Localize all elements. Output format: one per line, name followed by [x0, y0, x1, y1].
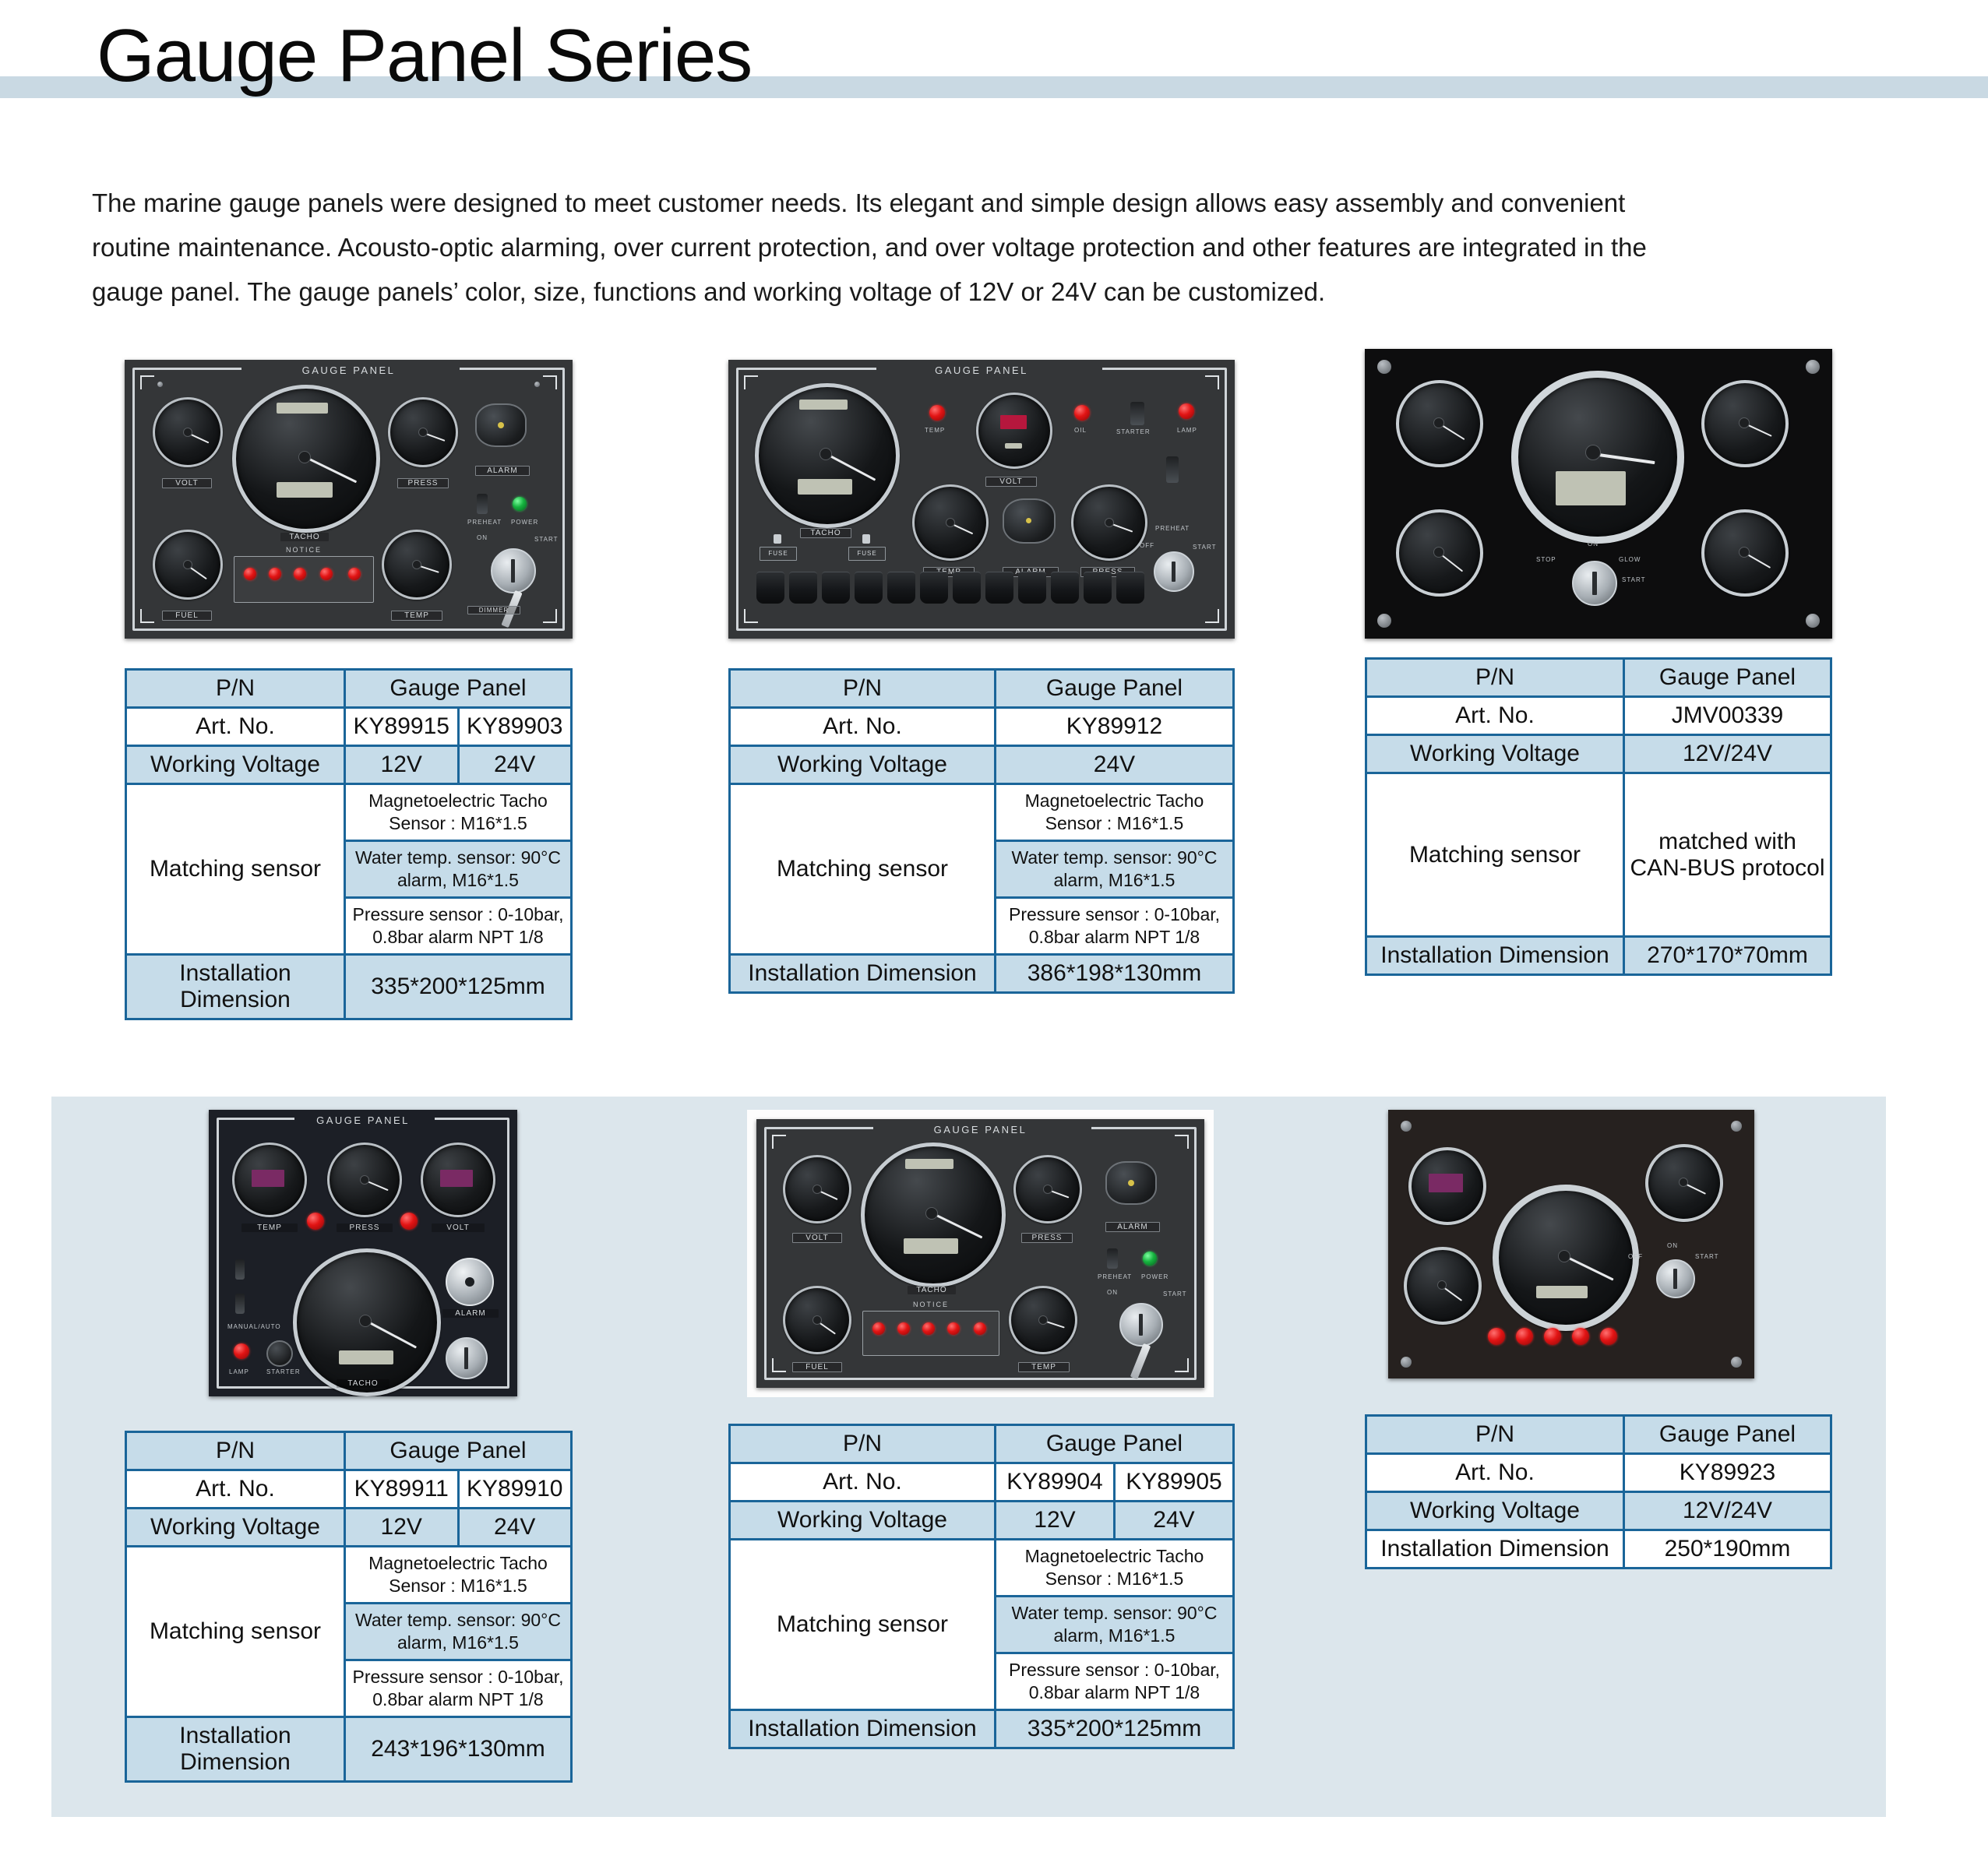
- gauge-panel-illustration: GAUGE PANEL VOLT TACHO PRESS: [756, 1119, 1204, 1388]
- gauge-panel-header: Gauge Panel: [996, 1425, 1234, 1463]
- gauge-panel-header: Gauge Panel: [996, 670, 1234, 708]
- screw: [1731, 1121, 1742, 1132]
- art-no-value: KY89912: [996, 708, 1234, 746]
- rocker-switch[interactable]: [789, 572, 817, 604]
- gauge-hub: [1043, 1185, 1052, 1194]
- alarm-led: [269, 568, 281, 580]
- fuel-gauge: [153, 530, 223, 600]
- table-row: P/N Gauge Panel: [730, 670, 1234, 708]
- art-no-label: Art. No.: [1366, 1454, 1624, 1492]
- press-gauge: [1013, 1155, 1082, 1223]
- key-slot: [511, 559, 515, 583]
- screw: [1401, 1121, 1412, 1132]
- press-gauge: [1071, 484, 1147, 561]
- voltage-value: 12V: [996, 1502, 1115, 1540]
- table-row: Art. No. KY89912: [730, 708, 1234, 746]
- alarm-indicator: [465, 1277, 474, 1287]
- alarm-led: [348, 568, 361, 580]
- sensor-tacho: Magnetoelectric Tacho Sensor : M16*1.5: [996, 1540, 1234, 1597]
- table-row: Matching sensor matched with CAN-BUS pro…: [1366, 773, 1831, 937]
- tacho-hour-meter: [277, 482, 333, 498]
- art-no-label: Art. No.: [1366, 697, 1624, 735]
- product-card-jmv00339: ON STOP GLOW START P/N Gauge Panel Art. …: [1365, 349, 1832, 976]
- tacho-hour-meter: [339, 1350, 393, 1364]
- voltage-value: 12V: [345, 1509, 459, 1547]
- fuse-body: [774, 534, 781, 544]
- working-voltage-label: Working Voltage: [1366, 1492, 1624, 1530]
- gauge-hub: [1739, 417, 1750, 428]
- ignition-key-switch[interactable]: [1656, 1259, 1695, 1298]
- product-photo-ky89923: ON OFF START: [1388, 1110, 1832, 1378]
- gauge-needle: [304, 456, 357, 483]
- volt-digital-display: [440, 1170, 473, 1187]
- table-row: Working Voltage 12V/24V: [1366, 1492, 1831, 1530]
- sensor-tacho: Magnetoelectric Tacho Sensor : M16*1.5: [345, 1547, 572, 1604]
- ignition-key-switch[interactable]: [1572, 561, 1617, 606]
- product-photo-ky89912: GAUGE PANEL TACHO TEMP VOLT OIL: [728, 360, 1235, 639]
- volt-label: VOLT: [792, 1233, 842, 1243]
- installation-dimension-value: 386*198*130mm: [996, 955, 1234, 993]
- rocker-switch[interactable]: [1084, 572, 1112, 604]
- table-row: P/N Gauge Panel: [1366, 659, 1831, 697]
- installation-dimension-label: Installation Dimension: [126, 1717, 345, 1782]
- alarm-button[interactable]: [475, 403, 527, 447]
- table-row: Working Voltage 12V/24V: [1366, 735, 1831, 773]
- alarm-led: [1516, 1328, 1533, 1345]
- toggle-switch[interactable]: [1107, 1248, 1118, 1269]
- pn-header: P/N: [1366, 659, 1624, 697]
- corner-mark: [1175, 1358, 1189, 1372]
- gauge-hub: [812, 1185, 822, 1194]
- ignition-key-switch[interactable]: [1119, 1303, 1163, 1347]
- tacho-top-lcd: [905, 1159, 953, 1169]
- gauge-panel-illustration: GAUGE PANEL VOLT TACHO: [125, 360, 573, 639]
- working-voltage-label: Working Voltage: [126, 746, 345, 784]
- installation-dimension-label: Installation Dimension: [126, 955, 345, 1019]
- panel-caption: GAUGE PANEL: [125, 364, 573, 376]
- temp-gauge: [382, 530, 452, 600]
- art-no-label: Art. No.: [730, 1463, 996, 1502]
- volt-gauge: [153, 397, 223, 467]
- art-no-value: KY89903: [458, 708, 572, 746]
- volt-label: VOLT: [432, 1223, 485, 1232]
- art-no-value: KY89910: [458, 1470, 572, 1509]
- press-label: PRESS: [397, 478, 449, 488]
- panel-caption: GAUGE PANEL: [209, 1114, 517, 1126]
- product-card-ky89904: GAUGE PANEL VOLT TACHO PRESS: [728, 1110, 1235, 1749]
- alarm-led: [1544, 1328, 1561, 1345]
- fuel-label: FUEL: [792, 1362, 842, 1372]
- screw: [1806, 360, 1820, 374]
- alarm-indicator: [1128, 1180, 1134, 1186]
- temp-gauge: [232, 1143, 307, 1217]
- gauge-hub: [812, 1315, 822, 1325]
- power-led: [513, 497, 527, 511]
- alarm-label: ALARM: [1105, 1222, 1160, 1232]
- screw: [1377, 614, 1391, 628]
- installation-dimension-label: Installation Dimension: [730, 1710, 996, 1748]
- pn-header: P/N: [1366, 1416, 1624, 1454]
- alarm-button[interactable]: [446, 1258, 494, 1306]
- alarm-led: [974, 1322, 986, 1335]
- alarm-led: [897, 1322, 910, 1335]
- gauge-needle: [1593, 452, 1655, 464]
- table-row: Working Voltage 12V 24V: [126, 1509, 572, 1547]
- sensor-tacho: Magnetoelectric Tacho Sensor : M16*1.5: [345, 784, 572, 841]
- press-label: PRESS: [337, 1223, 393, 1232]
- tacho-gauge: [1511, 371, 1684, 544]
- voltage-value: 24V: [996, 746, 1234, 784]
- gauge-panel-header: Gauge Panel: [345, 1432, 572, 1470]
- tacho-hour-meter: [1536, 1286, 1588, 1298]
- alarm-led: [872, 1322, 885, 1335]
- voltage-value: 24V: [458, 746, 572, 784]
- gauge-panel-header: Gauge Panel: [345, 670, 572, 708]
- press-gauge: [327, 1143, 402, 1217]
- screw: [1806, 614, 1820, 628]
- corner-mark: [744, 609, 758, 623]
- alarm-label: ALARM: [475, 466, 530, 476]
- gauge-panel-illustration: ON OFF START: [1388, 1110, 1754, 1378]
- temp-label: TEMP: [241, 1223, 298, 1232]
- rocker-switch[interactable]: [822, 572, 850, 604]
- voltage-value: 12V/24V: [1624, 1492, 1831, 1530]
- sensor-pressure: Pressure sensor : 0-10bar, 0.8bar alarm …: [996, 1653, 1234, 1710]
- spec-table-ky89915: P/N Gauge Panel Art. No. KY89915 KY89903…: [125, 668, 573, 1020]
- intro-paragraph: The marine gauge panels were designed to…: [92, 181, 1673, 314]
- voltage-value: 12V: [345, 746, 459, 784]
- volt-label: VOLT: [985, 477, 1037, 487]
- voltage-value: 24V: [458, 1509, 572, 1547]
- gauge-hub: [1679, 1178, 1688, 1187]
- rocker-switch[interactable]: [920, 572, 948, 604]
- installation-dimension-label: Installation Dimension: [1366, 937, 1624, 975]
- sensor-pressure: Pressure sensor : 0-10bar, 0.8bar alarm …: [345, 898, 572, 955]
- tacho-gauge: [1493, 1185, 1639, 1331]
- temp-alarm-led: [307, 1213, 324, 1230]
- gauge-hub: [412, 560, 421, 569]
- page-title: Gauge Panel Series: [97, 12, 752, 100]
- spec-table-ky89911: P/N Gauge Panel Art. No. KY89911 KY89910…: [125, 1431, 573, 1783]
- key-slot: [1592, 572, 1597, 595]
- volt-gauge: [783, 1155, 851, 1223]
- table-row: Matching sensor Magnetoelectric Tacho Se…: [126, 784, 572, 841]
- art-no-value: KY89923: [1624, 1454, 1831, 1492]
- art-no-label: Art. No.: [126, 708, 345, 746]
- starter-button[interactable]: [266, 1340, 293, 1367]
- table-row: Matching sensor Magnetoelectric Tacho Se…: [126, 1547, 572, 1604]
- toggle-switch[interactable]: [1130, 402, 1144, 425]
- corner-mark: [744, 375, 758, 389]
- table-row: Art. No. KY89923: [1366, 1454, 1831, 1492]
- table-row: P/N Gauge Panel: [126, 1432, 572, 1470]
- tacho-label: TACHO: [337, 1379, 389, 1388]
- spec-table-ky89904: P/N Gauge Panel Art. No. KY89904 KY89905…: [728, 1424, 1235, 1749]
- tacho-gauge: [755, 383, 900, 528]
- product-card-ky89923: ON OFF START P/N Gauge Panel Art. No. KY…: [1365, 1110, 1832, 1569]
- matching-sensor-label: Matching sensor: [730, 1540, 996, 1710]
- rocker-switch[interactable]: [855, 572, 883, 604]
- corner-mark: [140, 375, 154, 389]
- pn-header: P/N: [730, 670, 996, 708]
- pn-header: P/N: [126, 1432, 345, 1470]
- art-no-value: KY89911: [345, 1470, 459, 1509]
- dimmer-label: DIMMER: [467, 606, 520, 614]
- tacho-gauge: [861, 1143, 1006, 1287]
- working-voltage-label: Working Voltage: [1366, 735, 1624, 773]
- gauge-hub: [1433, 417, 1444, 428]
- gauge-hub: [1105, 518, 1114, 527]
- notice-led-strip: NOTICE: [862, 1311, 999, 1356]
- toggle-switch[interactable]: [235, 1259, 245, 1280]
- temp-digital-display: [252, 1170, 284, 1187]
- temp-gauge: [912, 484, 989, 561]
- gauge-panel-illustration: GAUGE PANEL TACHO TEMP VOLT OIL: [728, 360, 1235, 639]
- gauge-panel-illustration: ON STOP GLOW START: [1365, 349, 1832, 639]
- sensor-water-temp: Water temp. sensor: 90°C alarm, M16*1.5: [996, 841, 1234, 898]
- art-no-value: KY89904: [996, 1463, 1115, 1502]
- screw: [157, 382, 163, 387]
- corner-mark: [772, 1358, 786, 1372]
- table-row: Installation Dimension 335*200*125mm: [126, 955, 572, 1019]
- sensor-pressure: Pressure sensor : 0-10bar, 0.8bar alarm …: [345, 1660, 572, 1717]
- gauge-hub: [1558, 1250, 1570, 1262]
- tacho-top-lcd: [799, 400, 848, 410]
- art-no-value: JMV00339: [1624, 697, 1831, 735]
- screw: [1401, 1357, 1412, 1368]
- volt-gauge: [1645, 1144, 1723, 1222]
- matching-sensor-label: Matching sensor: [126, 1547, 345, 1717]
- press-gauge: [388, 397, 458, 467]
- table-row: P/N Gauge Panel: [730, 1425, 1234, 1463]
- gauge-hub: [820, 448, 832, 460]
- gauge-hub: [1585, 445, 1601, 460]
- art-no-label: Art. No.: [730, 708, 996, 746]
- key-slot: [464, 1347, 468, 1369]
- corner-mark: [1175, 1135, 1189, 1149]
- sensor-water-temp: Water temp. sensor: 90°C alarm, M16*1.5: [345, 841, 572, 898]
- gauge-needle: [1563, 1255, 1613, 1280]
- pn-header: P/N: [126, 670, 345, 708]
- corner-mark: [772, 1135, 786, 1149]
- installation-dimension-value: 335*200*125mm: [996, 1710, 1234, 1748]
- gauge-hub: [1038, 1315, 1048, 1325]
- table-row: Working Voltage 12V 24V: [126, 746, 572, 784]
- corner-mark: [140, 609, 154, 623]
- spec-table-jmv00339: P/N Gauge Panel Art. No. JMV00339 Workin…: [1365, 657, 1832, 976]
- pn-header: P/N: [730, 1425, 996, 1463]
- ignition-key-switch[interactable]: [1154, 551, 1194, 592]
- temp-label: TEMP: [391, 611, 442, 621]
- screw: [1377, 360, 1391, 374]
- temp-label: TEMP: [1018, 1362, 1070, 1372]
- gauge-panel-header: Gauge Panel: [1624, 659, 1831, 697]
- art-no-value: KY89905: [1115, 1463, 1234, 1502]
- spec-table-ky89923: P/N Gauge Panel Art. No. KY89923 Working…: [1365, 1414, 1832, 1569]
- rocker-switch[interactable]: [756, 572, 784, 604]
- gauge-hub: [360, 1175, 369, 1185]
- product-card-ky89911: GAUGE PANEL TEMP PRESS VOLT: [125, 1110, 573, 1783]
- power-led: [1143, 1252, 1157, 1266]
- product-photo-jmv00339: ON STOP GLOW START: [1365, 349, 1832, 639]
- rocker-switch[interactable]: [1116, 572, 1144, 604]
- art-no-label: Art. No.: [126, 1470, 345, 1509]
- indicator-led: [1179, 403, 1194, 419]
- fuel-gauge: [1396, 380, 1483, 467]
- product-card-ky89912: GAUGE PANEL TACHO TEMP VOLT OIL: [728, 360, 1235, 994]
- fuse-label: FUSE: [760, 547, 797, 561]
- fuse-body: [862, 534, 870, 544]
- table-row: Installation Dimension 335*200*125mm: [730, 1710, 1234, 1748]
- gauge-hub: [1739, 547, 1750, 558]
- working-voltage-label: Working Voltage: [730, 1502, 996, 1540]
- table-row: Art. No. KY89915 KY89903: [126, 708, 572, 746]
- temp-gauge: [1009, 1286, 1077, 1354]
- voltage-value: 12V/24V: [1624, 735, 1831, 773]
- corner-mark: [543, 375, 557, 389]
- toggle-switch[interactable]: [1166, 456, 1179, 483]
- toggle-switch[interactable]: [477, 494, 488, 514]
- rocker-switch[interactable]: [985, 572, 1013, 604]
- table-row: Matching sensor Magnetoelectric Tacho Se…: [730, 784, 1234, 841]
- panel-caption: GAUGE PANEL: [756, 1124, 1204, 1135]
- gauge-needle: [931, 1212, 982, 1238]
- product-photo-ky89915: GAUGE PANEL VOLT TACHO: [125, 360, 573, 639]
- indicator-led: [1074, 405, 1090, 421]
- alarm-led: [1600, 1328, 1617, 1345]
- gauge-hub: [418, 428, 428, 437]
- installation-dimension-value: 270*170*70mm: [1624, 937, 1831, 975]
- key-slot: [1673, 1269, 1677, 1289]
- rocker-switch[interactable]: [887, 572, 915, 604]
- fuel-gauge: [783, 1286, 851, 1354]
- volt-lcd: [1005, 443, 1022, 449]
- alarm-button[interactable]: [1003, 498, 1056, 544]
- gauge-needle: [825, 452, 876, 481]
- volt-gauge: [1396, 509, 1483, 597]
- alarm-led: [1572, 1328, 1589, 1345]
- toggle-switch[interactable]: [235, 1294, 245, 1314]
- fuel-label: FUEL: [162, 611, 212, 621]
- gauge-hub: [183, 560, 192, 569]
- table-row: Installation Dimension 270*170*70mm: [1366, 937, 1831, 975]
- table-row: P/N Gauge Panel: [126, 670, 572, 708]
- gauge-hub: [183, 428, 192, 437]
- key-slot: [1172, 562, 1176, 582]
- press-label: PRESS: [1021, 1233, 1073, 1243]
- rocker-switch[interactable]: [953, 572, 981, 604]
- installation-dimension-label: Installation Dimension: [1366, 1530, 1624, 1569]
- installation-dimension-value: 243*196*130mm: [345, 1717, 572, 1782]
- indicator-led: [234, 1343, 249, 1359]
- matching-sensor-label: Matching sensor: [126, 784, 345, 955]
- table-row: Working Voltage 12V 24V: [730, 1502, 1234, 1540]
- corner-mark: [543, 609, 557, 623]
- table-row: Installation Dimension 250*190mm: [1366, 1530, 1831, 1569]
- temp-gauge: [1701, 509, 1789, 597]
- alarm-led: [1488, 1328, 1505, 1345]
- working-voltage-label: Working Voltage: [126, 1509, 345, 1547]
- table-row: Art. No. JMV00339: [1366, 697, 1831, 735]
- temp-digital-display: [1429, 1174, 1463, 1192]
- notice-label: NOTICE: [234, 546, 373, 554]
- alarm-led: [244, 568, 256, 580]
- matching-sensor-label: Matching sensor: [1366, 773, 1624, 937]
- spec-table-ky89912: P/N Gauge Panel Art. No. KY89912 Working…: [728, 668, 1235, 994]
- press-gauge: [1701, 380, 1789, 467]
- table-row: Art. No. KY89904 KY89905: [730, 1463, 1234, 1502]
- alarm-led: [922, 1322, 935, 1335]
- key-slot: [1139, 1314, 1143, 1336]
- corner-mark: [1205, 609, 1219, 623]
- alarm-label: ALARM: [442, 1309, 499, 1318]
- temp-gauge: [1408, 1147, 1486, 1225]
- working-voltage-label: Working Voltage: [730, 746, 996, 784]
- gauge-hub: [359, 1315, 372, 1327]
- tacho-label: TACHO: [908, 1286, 956, 1294]
- ignition-key-switch[interactable]: [491, 548, 536, 593]
- gauge-panel-illustration: GAUGE PANEL TEMP PRESS VOLT: [209, 1110, 517, 1396]
- rocker-switch[interactable]: [1051, 572, 1079, 604]
- alarm-button[interactable]: [1105, 1161, 1157, 1205]
- sensor-water-temp: Water temp. sensor: 90°C alarm, M16*1.5: [996, 1597, 1234, 1653]
- voltage-value: 24V: [1115, 1502, 1234, 1540]
- product-photo-ky89904: GAUGE PANEL VOLT TACHO PRESS: [747, 1110, 1214, 1397]
- table-row: Installation Dimension 386*198*130mm: [730, 955, 1234, 993]
- press-alarm-led: [400, 1213, 418, 1230]
- screw: [1731, 1357, 1742, 1368]
- tacho-hour-meter: [904, 1238, 958, 1254]
- tacho-display: [1556, 471, 1626, 505]
- art-no-value: KY89915: [345, 708, 459, 746]
- rocker-switch[interactable]: [1018, 572, 1046, 604]
- fuse-label: FUSE: [848, 547, 886, 561]
- product-photo-ky89911: GAUGE PANEL TEMP PRESS VOLT: [209, 1110, 573, 1396]
- sensor-water-temp: Water temp. sensor: 90°C alarm, M16*1.5: [345, 1604, 572, 1660]
- product-card-ky89915: GAUGE PANEL VOLT TACHO: [125, 360, 573, 1020]
- alarm-indicator: [498, 422, 504, 428]
- ignition-key-switch[interactable]: [446, 1337, 488, 1379]
- installation-dimension-label: Installation Dimension: [730, 955, 996, 993]
- table-row: Matching sensor Magnetoelectric Tacho Se…: [730, 1540, 1234, 1597]
- tacho-gauge: [293, 1248, 441, 1396]
- volt-gauge: [421, 1143, 495, 1217]
- sensor-pressure: Pressure sensor : 0-10bar, 0.8bar alarm …: [996, 898, 1234, 955]
- table-row: Art. No. KY89911 KY89910: [126, 1470, 572, 1509]
- alarm-indicator: [1026, 518, 1031, 523]
- notice-label: NOTICE: [863, 1301, 999, 1308]
- gauge-hub: [298, 451, 311, 463]
- tacho-gauge: [232, 385, 380, 533]
- gauge-hub: [946, 518, 955, 527]
- tacho-top-lcd: [277, 403, 328, 414]
- notice-led-strip: NOTICE: [234, 556, 374, 603]
- gauge-hub: [925, 1207, 938, 1220]
- gauge-needle: [365, 1319, 417, 1348]
- tacho-label: TACHO: [280, 533, 329, 541]
- gauge-hub: [1433, 547, 1444, 558]
- press-gauge: [1404, 1247, 1482, 1325]
- gauge-panel-header: Gauge Panel: [1624, 1416, 1831, 1454]
- table-row: Installation Dimension 243*196*130mm: [126, 1717, 572, 1782]
- indicator-led: [929, 405, 945, 421]
- matching-sensor-label: Matching sensor: [730, 784, 996, 955]
- volt-label: VOLT: [162, 478, 212, 488]
- alarm-led: [294, 568, 306, 580]
- installation-dimension-value: 250*190mm: [1624, 1530, 1831, 1569]
- table-row: P/N Gauge Panel: [1366, 1416, 1831, 1454]
- sensor-canbus: matched with CAN-BUS protocol: [1624, 773, 1831, 937]
